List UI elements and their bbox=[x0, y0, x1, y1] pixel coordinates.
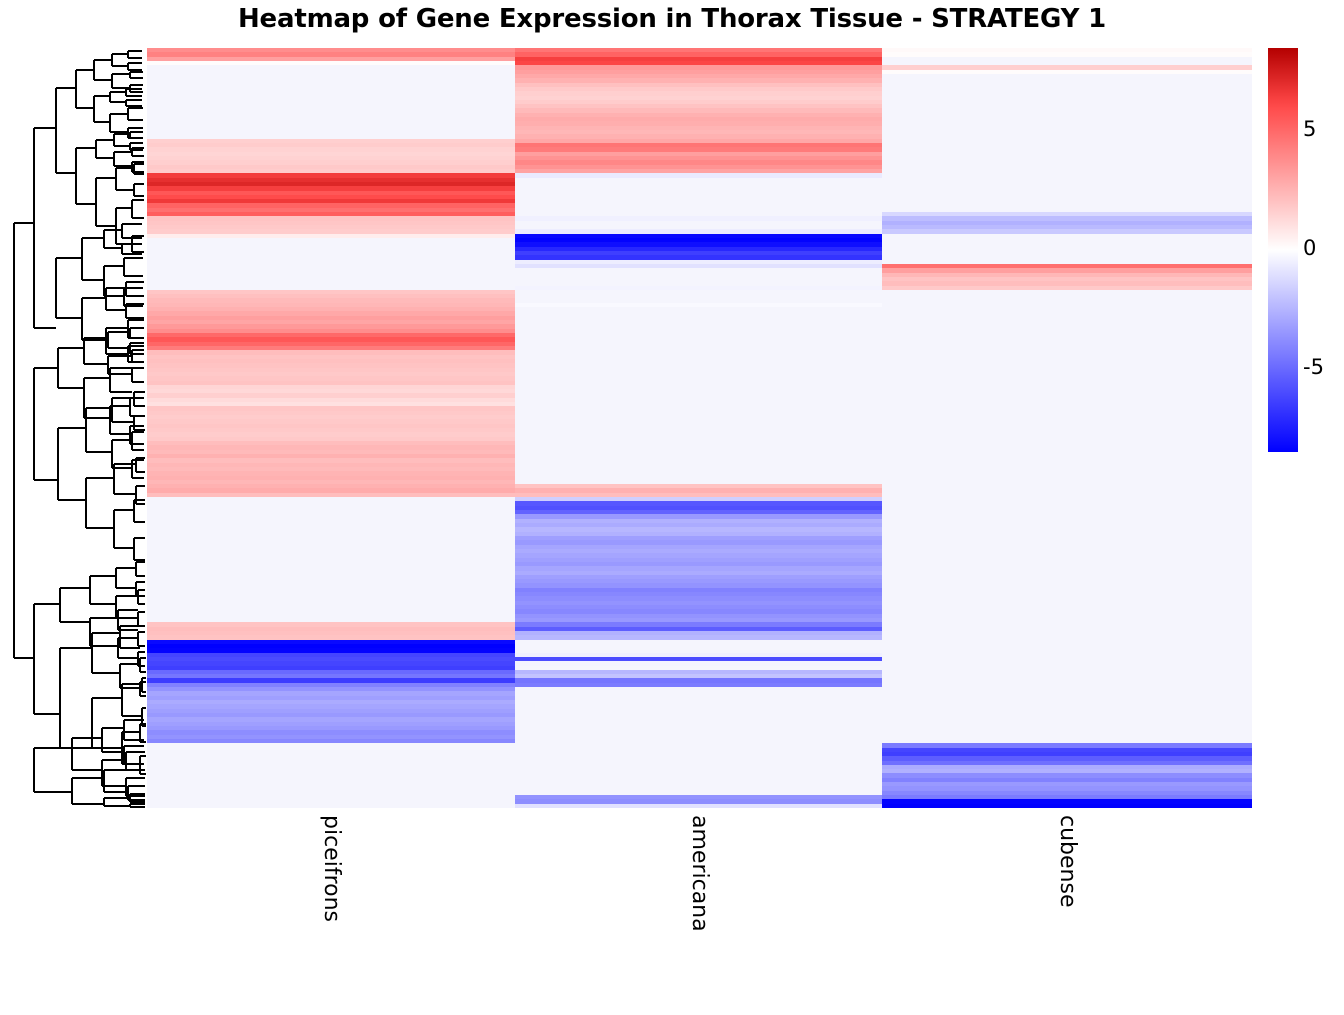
heatmap-cell bbox=[147, 804, 515, 808]
xtick-label-cubense: cubense bbox=[1055, 815, 1080, 1015]
heatmap-column-piceifrons bbox=[147, 48, 515, 808]
heatmap-column-americana bbox=[515, 48, 882, 808]
colorbar-tick-minus5: -5 bbox=[1303, 355, 1324, 379]
page-title: Heatmap of Gene Expression in Thorax Tis… bbox=[0, 4, 1344, 34]
xtick-label-piceifrons: piceifrons bbox=[319, 815, 344, 1015]
row-dendrogram bbox=[12, 48, 147, 808]
colorbar bbox=[1268, 48, 1298, 452]
heatmap-cell bbox=[882, 804, 1252, 808]
heatmap-figure: Heatmap of Gene Expression in Thorax Tis… bbox=[0, 0, 1344, 960]
xtick-label-americana: americana bbox=[687, 815, 712, 1015]
heatmap-column-cubense bbox=[882, 48, 1252, 808]
colorbar-gradient bbox=[1268, 48, 1298, 452]
colorbar-tick-0: 0 bbox=[1303, 236, 1316, 260]
heatmap-grid bbox=[147, 48, 1252, 808]
dendrogram-svg bbox=[12, 48, 147, 808]
heatmap-cell bbox=[515, 804, 882, 808]
colorbar-tick-5: 5 bbox=[1303, 117, 1316, 141]
